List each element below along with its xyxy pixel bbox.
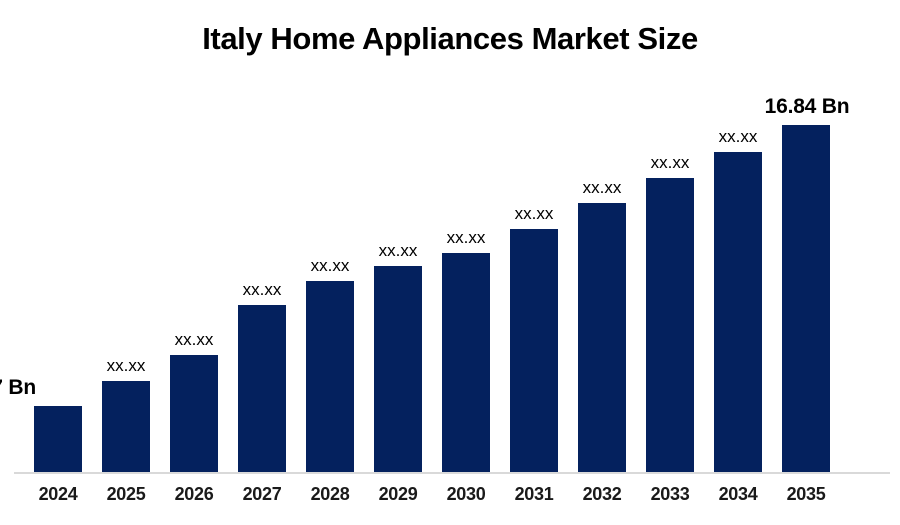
bar-group: xx.xx [704, 152, 772, 472]
bar[interactable] [510, 229, 558, 472]
x-axis-category-label: 2030 [432, 484, 500, 505]
x-axis-category-label: 2033 [636, 484, 704, 505]
bar-group: 16.84 Bn [772, 125, 840, 472]
bar[interactable] [238, 305, 286, 472]
bar[interactable] [442, 253, 490, 472]
bar-group: xx.xx [92, 381, 160, 472]
bar[interactable] [714, 152, 762, 472]
bar-value-label: xx.xx [568, 178, 636, 198]
bar-chart: Italy Home Appliances Market Size 10.27 … [0, 0, 900, 525]
x-axis-category-label: 2032 [568, 484, 636, 505]
bar-value-label: xx.xx [636, 153, 704, 173]
bar[interactable] [306, 281, 354, 472]
x-axis-line [14, 472, 890, 474]
bar[interactable] [34, 406, 82, 472]
x-axis-category-label: 2035 [772, 484, 840, 505]
x-axis-category-label: 2028 [296, 484, 364, 505]
bar-value-label: xx.xx [364, 241, 432, 261]
bar-value-label: 16.84 Bn [742, 95, 872, 119]
x-axis-category-label: 2027 [228, 484, 296, 505]
bar[interactable] [646, 178, 694, 472]
x-axis-category-label: 2029 [364, 484, 432, 505]
bar-group: xx.xx [228, 305, 296, 472]
bar-value-label: xx.xx [296, 256, 364, 276]
bar[interactable] [782, 125, 830, 472]
x-axis-category-label: 2031 [500, 484, 568, 505]
x-axis-category-label: 2025 [92, 484, 160, 505]
bar[interactable] [578, 203, 626, 472]
bar-group: xx.xx [568, 203, 636, 472]
bar-value-label: xx.xx [432, 228, 500, 248]
x-axis-category-label: 2024 [24, 484, 92, 505]
bar-group: xx.xx [296, 281, 364, 472]
bar-value-label: xx.xx [500, 204, 568, 224]
bar[interactable] [374, 266, 422, 472]
bar-group: xx.xx [432, 253, 500, 472]
bar-group: xx.xx [500, 229, 568, 472]
bar-group: xx.xx [160, 355, 228, 472]
bar-group: xx.xx [364, 266, 432, 472]
bar-group: 10.27 Bn [24, 406, 92, 472]
bar-value-label: xx.xx [704, 127, 772, 147]
x-axis-category-label: 2026 [160, 484, 228, 505]
bar-value-label: xx.xx [92, 356, 160, 376]
bar-value-label: 10.27 Bn [0, 376, 36, 400]
bar-value-label: xx.xx [228, 280, 296, 300]
bar-group: xx.xx [636, 178, 704, 472]
bar[interactable] [102, 381, 150, 472]
plot-area: 10.27 Bn2024xx.xx2025xx.xx2026xx.xx2027x… [0, 0, 900, 525]
bar-value-label: xx.xx [160, 330, 228, 350]
bar[interactable] [170, 355, 218, 472]
x-axis-category-label: 2034 [704, 484, 772, 505]
